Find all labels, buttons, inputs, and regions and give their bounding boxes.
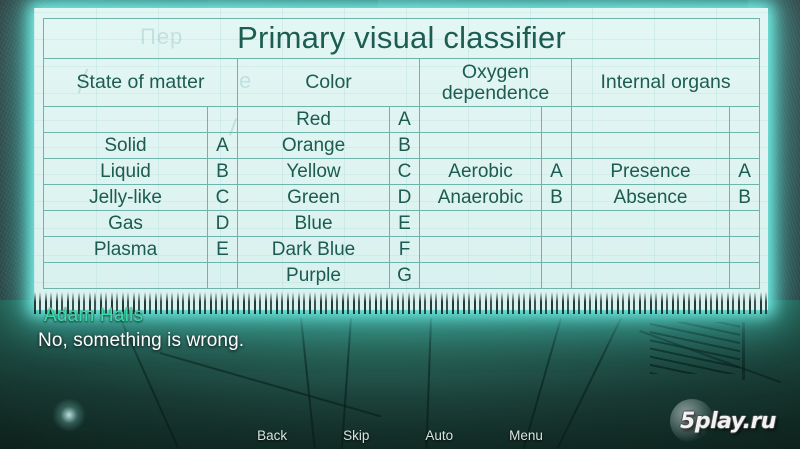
cell-internal-organs[interactable] (572, 107, 730, 133)
cell-state-of-matter-key: B (208, 159, 238, 185)
table-row: Solid A Orange B (44, 133, 760, 159)
cell-oxygen-dependence-key (542, 237, 572, 263)
speaker-name: Adam Halls (44, 305, 143, 327)
cell-color[interactable]: Blue (238, 211, 390, 237)
page-title: Primary visual classifier (44, 19, 760, 59)
panel-torn-edge (34, 292, 768, 314)
cell-internal-organs-key (730, 133, 760, 159)
cell-internal-organs[interactable] (572, 133, 730, 159)
table-row: Jelly-like C Green D Anaerobic B Absence… (44, 185, 760, 211)
table-row: Liquid B Yellow C Aerobic A Presence A (44, 159, 760, 185)
cell-oxygen-dependence-key: A (542, 159, 572, 185)
classifier-panel: Пер е Primary visual classifier State of… (34, 8, 768, 310)
cell-oxygen-dependence-key: B (542, 185, 572, 211)
column-header-internal-organs: Internal organs (572, 59, 760, 107)
column-header-oxygen-dependence: Oxygen dependence (420, 59, 572, 107)
cell-oxygen-dependence[interactable] (420, 211, 542, 237)
cell-oxygen-dependence[interactable]: Anaerobic (420, 185, 542, 211)
cell-internal-organs[interactable]: Presence (572, 159, 730, 185)
cell-state-of-matter[interactable] (44, 107, 208, 133)
watermark: 5play.ru (662, 405, 794, 437)
cell-color[interactable]: Dark Blue (238, 237, 390, 263)
cell-state-of-matter[interactable]: Liquid (44, 159, 208, 185)
cell-oxygen-dependence-key (542, 107, 572, 133)
classifier-table: Primary visual classifier State of matte… (43, 18, 760, 289)
cell-oxygen-dependence[interactable] (420, 237, 542, 263)
cell-oxygen-dependence[interactable] (420, 133, 542, 159)
cell-internal-organs-key: B (730, 185, 760, 211)
cell-internal-organs-key (730, 263, 760, 289)
menu-item-auto[interactable]: Auto (425, 428, 453, 443)
cell-color-key: G (390, 263, 420, 289)
cell-internal-organs-key (730, 237, 760, 263)
cell-state-of-matter[interactable]: Gas (44, 211, 208, 237)
cell-internal-organs[interactable] (572, 237, 730, 263)
cell-color-key: A (390, 107, 420, 133)
cell-state-of-matter[interactable]: Solid (44, 133, 208, 159)
cell-oxygen-dependence[interactable] (420, 107, 542, 133)
cell-color[interactable]: Purple (238, 263, 390, 289)
menu-item-back[interactable]: Back (257, 428, 287, 443)
cell-internal-organs[interactable] (572, 211, 730, 237)
menu-item-menu[interactable]: Menu (509, 428, 543, 443)
cell-internal-organs-key: A (730, 159, 760, 185)
dialogue-text[interactable]: No, something is wrong. (38, 330, 738, 352)
table-row: Plasma E Dark Blue F (44, 237, 760, 263)
cell-oxygen-dependence-key (542, 133, 572, 159)
cell-oxygen-dependence-key (542, 263, 572, 289)
game-screen: Пер е Primary visual classifier State of… (0, 0, 800, 449)
cell-oxygen-dependence[interactable] (420, 263, 542, 289)
table-row: Gas D Blue E (44, 211, 760, 237)
cell-color-key: B (390, 133, 420, 159)
grille-edge (742, 322, 745, 380)
cell-state-of-matter-key: A (208, 133, 238, 159)
cell-color-key: E (390, 211, 420, 237)
cell-state-of-matter-key: C (208, 185, 238, 211)
cell-internal-organs-key (730, 211, 760, 237)
column-header-color: Color (238, 59, 420, 107)
cell-internal-organs[interactable] (572, 263, 730, 289)
cell-state-of-matter-key: D (208, 211, 238, 237)
cell-state-of-matter[interactable]: Plasma (44, 237, 208, 263)
cell-state-of-matter[interactable]: Jelly-like (44, 185, 208, 211)
watermark-text: 5play.ru (680, 409, 776, 434)
cell-state-of-matter-key: E (208, 237, 238, 263)
cell-color[interactable]: Orange (238, 133, 390, 159)
table-title-row: Primary visual classifier (44, 19, 760, 59)
table-header-row: State of matter Color Oxygen dependence … (44, 59, 760, 107)
cell-state-of-matter-key (208, 263, 238, 289)
cell-state-of-matter-key (208, 107, 238, 133)
cell-oxygen-dependence[interactable]: Aerobic (420, 159, 542, 185)
cell-color[interactable]: Red (238, 107, 390, 133)
cell-internal-organs[interactable]: Absence (572, 185, 730, 211)
cell-internal-organs-key (730, 107, 760, 133)
cell-color-key: F (390, 237, 420, 263)
menu-item-skip[interactable]: Skip (343, 428, 369, 443)
cell-color-key: D (390, 185, 420, 211)
cell-state-of-matter[interactable] (44, 263, 208, 289)
cell-oxygen-dependence-key (542, 211, 572, 237)
cell-color-key: C (390, 159, 420, 185)
table-row: Purple G (44, 263, 760, 289)
column-header-state-of-matter: State of matter (44, 59, 238, 107)
cell-color[interactable]: Yellow (238, 159, 390, 185)
table-row: Red A (44, 107, 760, 133)
cell-color[interactable]: Green (238, 185, 390, 211)
